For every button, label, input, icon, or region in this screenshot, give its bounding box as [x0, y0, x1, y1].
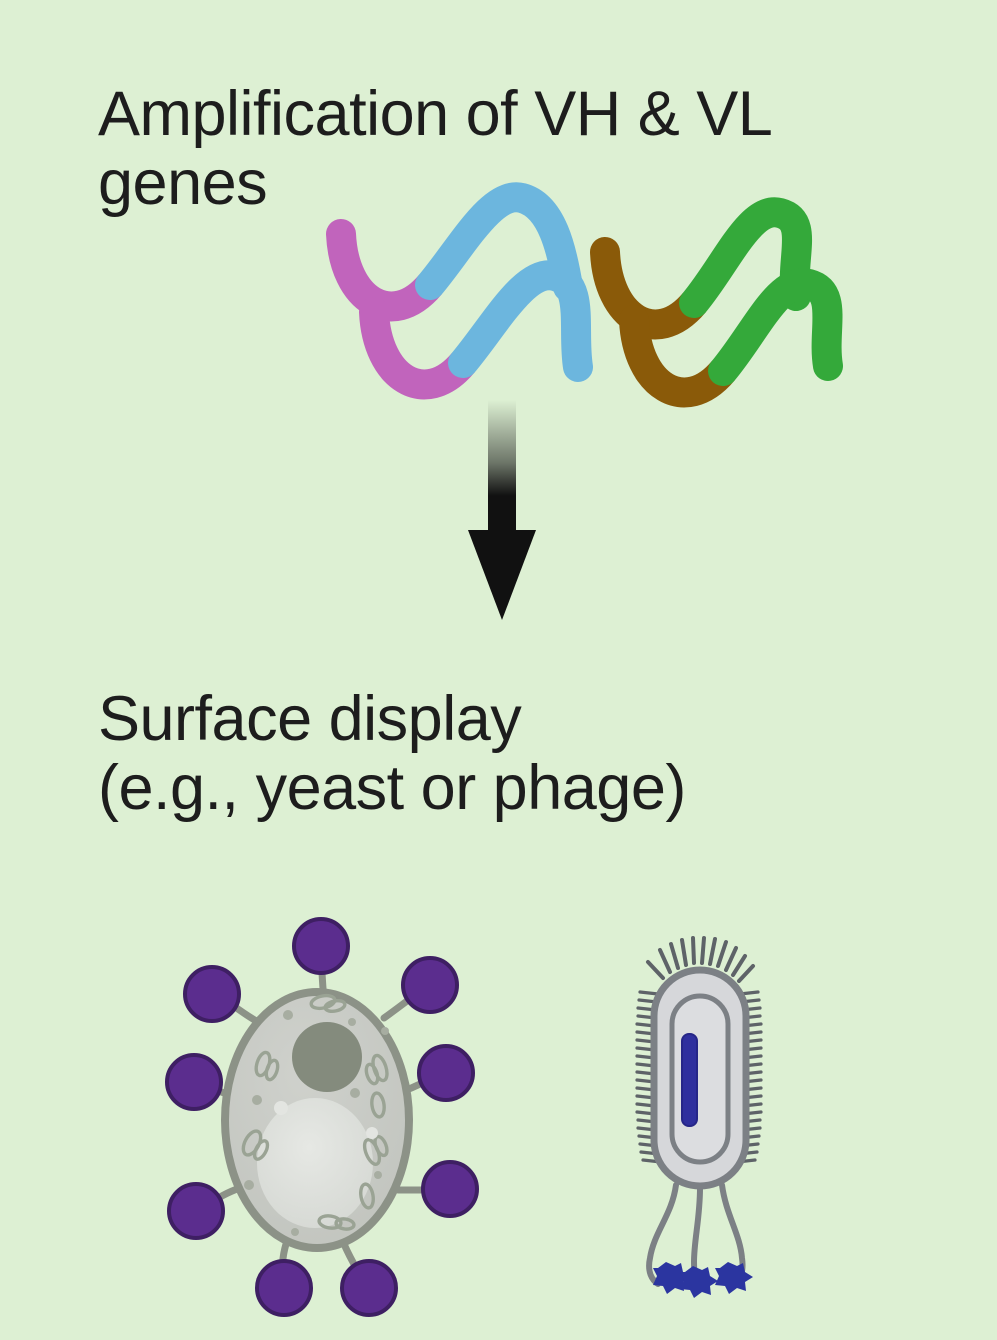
stalk-lower-left — [208, 1188, 240, 1204]
stalk-top — [321, 955, 324, 1000]
downward-process-arrow — [468, 400, 536, 620]
tail-fiber-center — [694, 1188, 700, 1286]
phage-right-pili — [737, 992, 761, 1162]
figure-canvas: Amplification of VH & VL genes Surface d… — [0, 0, 997, 1340]
phage-inner-membrane — [672, 996, 728, 1162]
display-protein-mid-left — [167, 1055, 221, 1109]
display-protein-upper-right — [403, 958, 457, 1012]
vl-strand-2-green-segment — [723, 283, 828, 371]
yeast-vesicles — [274, 1101, 378, 1139]
vh-strand-2-magenta-segment — [374, 312, 463, 384]
yeast-vacuole — [257, 1098, 373, 1228]
yeast-nucleus — [292, 1022, 362, 1092]
vl-strand-1-green-segment — [694, 212, 797, 303]
displayed-antibody-proteins — [167, 919, 477, 1315]
yeast-cell — [167, 919, 477, 1315]
stalk-mid-right — [398, 1077, 434, 1093]
stalk-upper-left — [224, 999, 258, 1022]
vl-strand-2-brown-segment — [634, 320, 723, 392]
stalk-bottom-right — [344, 1244, 362, 1278]
yeast-organelle-dots — [244, 1010, 389, 1236]
vh-strand-1-magenta-segment — [341, 234, 430, 306]
display-protein-bottom-right — [342, 1261, 396, 1315]
yeast-organelles — [240, 994, 390, 1231]
surface-display-step-label: Surface display (e.g., yeast or phage) — [98, 685, 918, 824]
display-protein-lower-left — [169, 1184, 223, 1238]
phage-particle — [637, 938, 761, 1298]
vh-strand-2-blue-segment — [463, 275, 578, 367]
fiber-tip-right — [715, 1262, 753, 1294]
phage-fiber-tips — [653, 1262, 753, 1298]
tail-fiber-left — [649, 1185, 676, 1284]
phage-top-pili — [648, 938, 753, 981]
display-protein-bottom-left — [257, 1261, 311, 1315]
stalk-bottom-left — [282, 1244, 286, 1278]
yeast-cell-membrane — [225, 992, 409, 1248]
phage-tail-fibers — [649, 1185, 742, 1286]
display-protein-mid-right — [419, 1046, 473, 1100]
fiber-tip-center — [680, 1266, 718, 1298]
phage-dna-core — [682, 1034, 697, 1126]
stalk-mid-left — [206, 1086, 238, 1098]
fiber-tip-left — [653, 1262, 691, 1294]
display-protein-top — [294, 919, 348, 973]
phage-left-pili — [637, 992, 661, 1162]
vl-gene-strands — [605, 212, 828, 392]
display-protein-lower-right — [423, 1162, 477, 1216]
vl-strand-1-brown-segment — [605, 252, 694, 324]
phage-capsid — [654, 970, 746, 1186]
display-protein-upper-left — [185, 967, 239, 1021]
amplification-step-label: Amplification of VH & VL genes — [98, 80, 918, 219]
display-protein-stalks — [206, 955, 438, 1278]
tail-fiber-right — [722, 1185, 743, 1284]
vh-gene-strands — [341, 197, 578, 384]
stalk-upper-right — [384, 993, 418, 1018]
